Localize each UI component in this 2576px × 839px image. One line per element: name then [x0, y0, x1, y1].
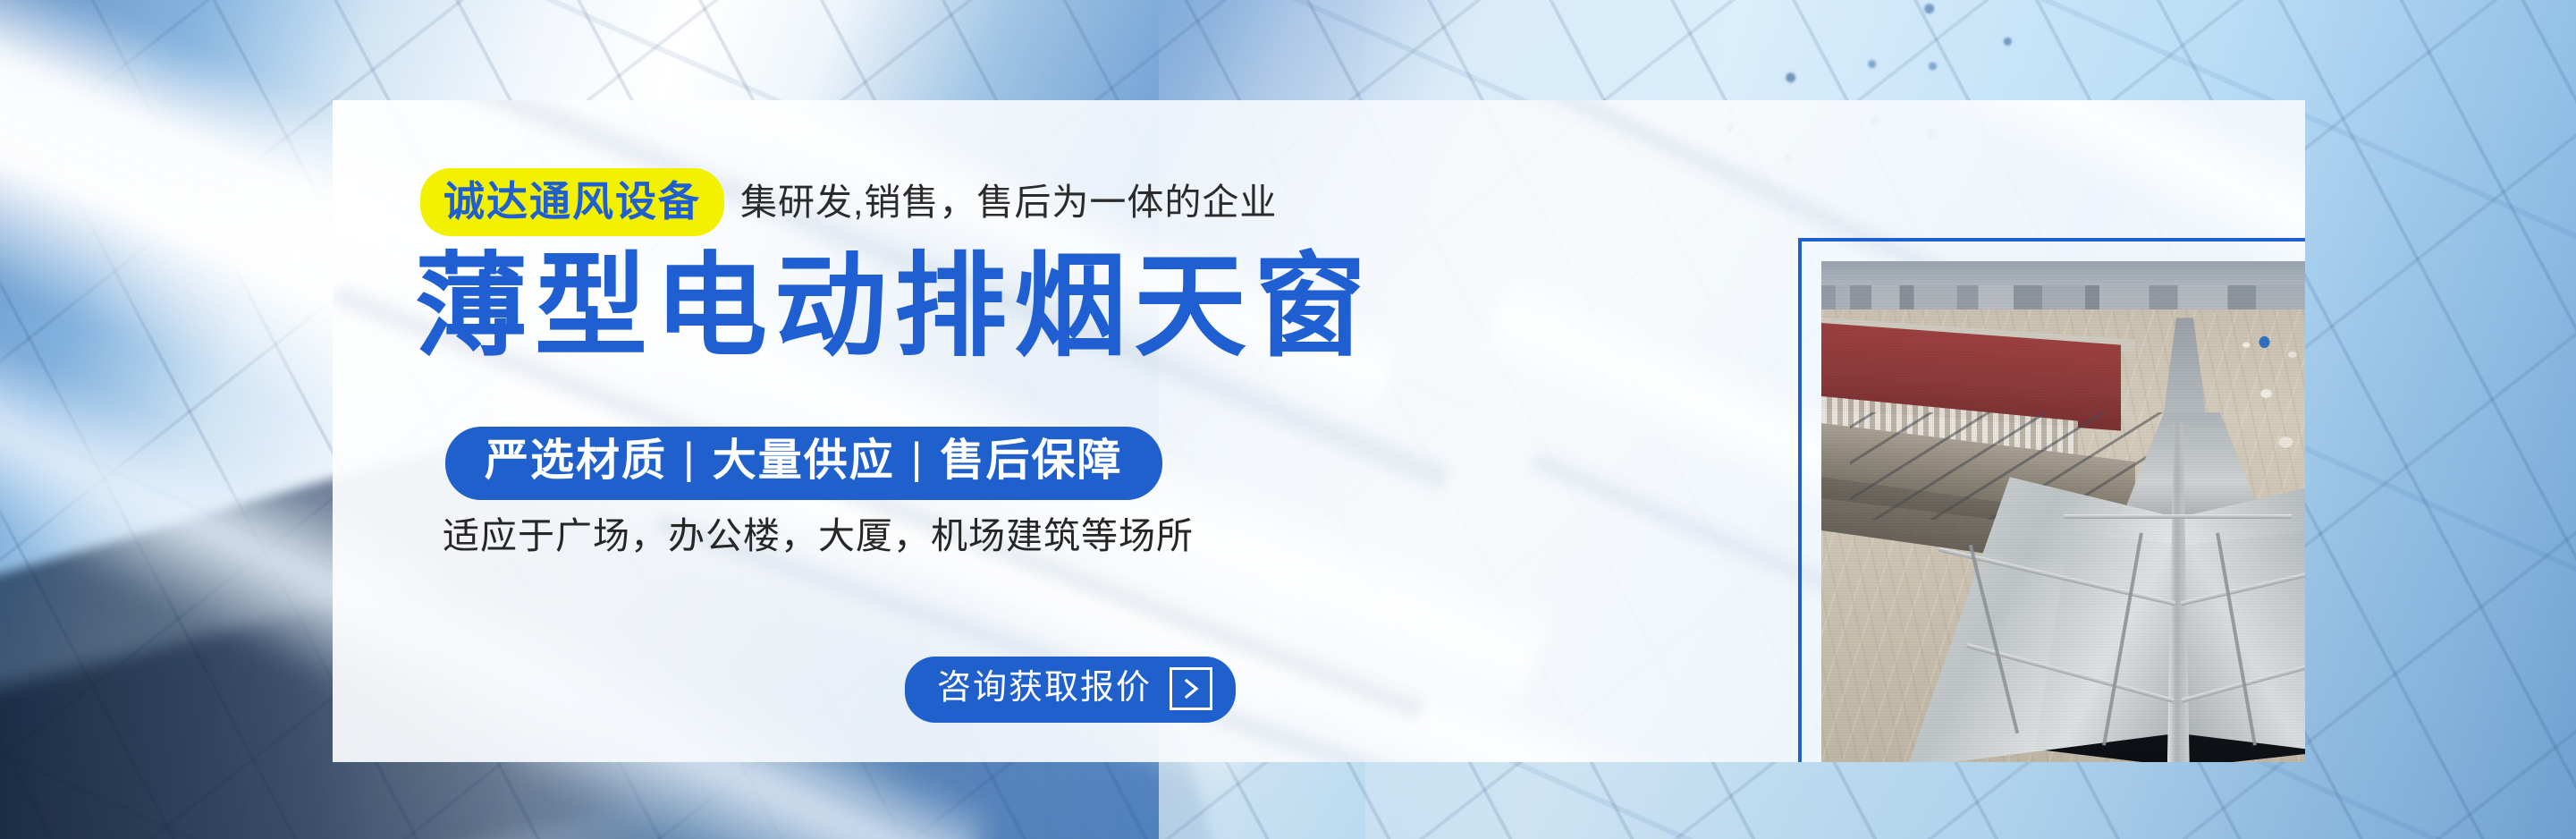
feature-item-2: 大量供应	[713, 436, 895, 487]
eyebrow-row: 诚达通风设备 集研发,销售，售后为一体的企业	[420, 168, 1277, 236]
photo-frame-rail	[2064, 514, 2292, 519]
promo-banner: 诚达通风设备 集研发,销售，售后为一体的企业 薄型电动排烟天窗 严选材质 | 大…	[0, 0, 2576, 839]
feature-pill: 严选材质 | 大量供应 | 售后保障	[445, 427, 1162, 500]
product-photo	[1821, 261, 2305, 762]
photo-skylight-panel-right	[2178, 477, 2306, 762]
photo-city-skyline	[1821, 285, 2305, 312]
sub-description: 适应于广场，办公楼，大厦，机场建筑等场所	[443, 518, 1194, 555]
feature-separator: |	[895, 434, 941, 486]
content-panel: 诚达通风设备 集研发,销售，售后为一体的企业 薄型电动排烟天窗 严选材质 | 大…	[333, 100, 2305, 762]
product-photo-frame	[1798, 238, 2305, 762]
feature-item-3: 售后保障	[941, 436, 1123, 487]
feature-separator: |	[667, 434, 713, 486]
feature-item-1: 严选材质	[485, 436, 667, 487]
cta-quote-button[interactable]: 咨询获取报价	[905, 657, 1236, 723]
photo-blue-vent-caps	[2234, 320, 2305, 363]
cta-label: 咨询获取报价	[937, 669, 1152, 708]
brand-badge: 诚达通风设备	[420, 168, 724, 236]
tagline-text: 集研发,销售，售后为一体的企业	[740, 184, 1277, 221]
text-column: 诚达通风设备 集研发,销售，售后为一体的企业 薄型电动排烟天窗 严选材质 | 大…	[420, 100, 1654, 762]
chevron-right-icon	[1170, 667, 1212, 710]
page-title: 薄型电动排烟天窗	[415, 250, 1373, 363]
